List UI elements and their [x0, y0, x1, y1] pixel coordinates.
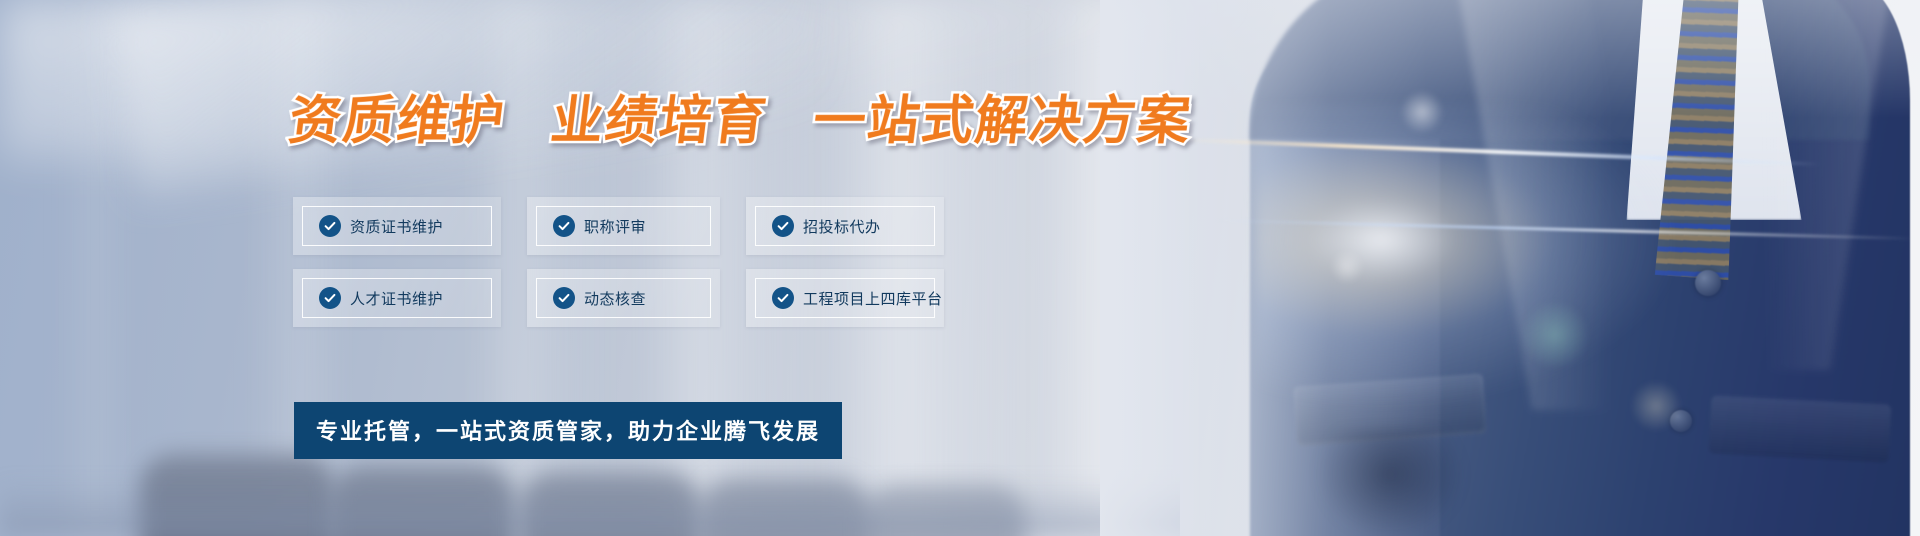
feature-card-label: 职称评审 — [584, 216, 646, 237]
banner-headline: 资质维护 业绩培育 一站式解决方案 — [285, 78, 1196, 153]
feature-card-bidding-agency[interactable]: 招投标代办 — [746, 197, 944, 255]
check-circle-icon — [553, 215, 575, 237]
promo-banner: 资质维护 业绩培育 一站式解决方案 资质证书维护 — [0, 0, 1920, 536]
check-circle-icon — [772, 287, 794, 309]
feature-card-row-1: 资质证书维护 职称评审 招投 — [293, 197, 973, 255]
photo-left-fade — [1100, 0, 1920, 536]
headline-segment-3: 一站式解决方案 — [810, 91, 1195, 151]
banner-tagline: 专业托管，一站式资质管家，助力企业腾飞发展 — [294, 402, 842, 459]
feature-card-dynamic-inspection[interactable]: 动态核查 — [527, 269, 720, 327]
feature-card-label: 人才证书维护 — [350, 288, 443, 309]
feature-card-talent-certificate[interactable]: 人才证书维护 — [293, 269, 501, 327]
businessman-photo — [1100, 0, 1920, 536]
feature-card-row-2: 人才证书维护 动态核查 工程 — [293, 269, 973, 327]
feature-card-label: 动态核查 — [584, 288, 646, 309]
feature-card-grid: 资质证书维护 职称评审 招投 — [293, 197, 973, 341]
check-circle-icon — [319, 215, 341, 237]
feature-card-label: 资质证书维护 — [350, 216, 443, 237]
check-circle-icon — [772, 215, 794, 237]
headline-segment-1: 资质维护 — [286, 91, 509, 151]
check-circle-icon — [319, 287, 341, 309]
check-circle-icon — [553, 287, 575, 309]
feature-card-qualification-certificate[interactable]: 资质证书维护 — [293, 197, 501, 255]
feature-card-label: 工程项目上四库平台 — [803, 288, 943, 309]
headline-segment-2: 业绩培育 — [548, 91, 771, 151]
feature-card-title-review[interactable]: 职称评审 — [527, 197, 720, 255]
feature-card-label: 招投标代办 — [803, 216, 881, 237]
feature-card-four-database-platform[interactable]: 工程项目上四库平台 — [746, 269, 944, 327]
banner-content: 资质维护 业绩培育 一站式解决方案 资质证书维护 — [0, 0, 1100, 536]
